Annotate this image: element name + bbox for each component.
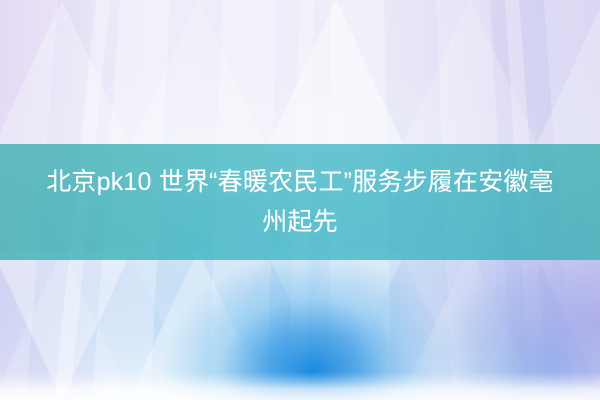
headline-line-2: 州起先 xyxy=(262,202,338,242)
page-title: 北京pk10 世界“春暖农民工”服务步履在安徽亳 州起先 xyxy=(0,144,600,260)
headline-line-1: 北京pk10 世界“春暖农民工”服务步履在安徽亳 xyxy=(46,162,554,202)
bottom-fade-strip xyxy=(0,372,600,400)
banner-image: 北京pk10 世界“春暖农民工”服务步履在安徽亳 州起先 xyxy=(0,0,600,400)
